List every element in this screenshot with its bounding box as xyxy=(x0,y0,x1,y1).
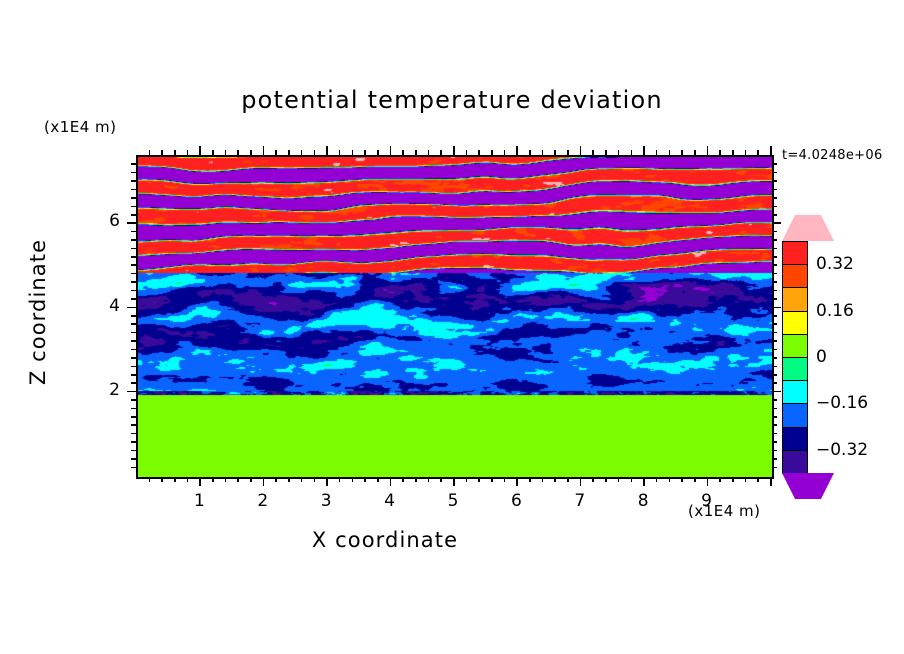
y-tick-right xyxy=(772,239,777,241)
y-tick xyxy=(131,189,136,191)
y-tick-right xyxy=(772,433,777,435)
y-tick xyxy=(131,450,136,452)
y-tick-right xyxy=(772,450,777,452)
x-tick xyxy=(719,477,721,482)
y-tick xyxy=(131,349,136,351)
x-tick-top xyxy=(174,150,176,155)
x-tick xyxy=(592,477,594,482)
x-tick xyxy=(770,477,772,486)
y-tick xyxy=(131,441,136,443)
x-tick xyxy=(352,477,354,482)
x-tick-top xyxy=(757,150,759,155)
x-tick xyxy=(275,477,277,482)
y-tick-label: 4 xyxy=(90,296,120,316)
x-tick xyxy=(732,477,734,482)
x-tick-top xyxy=(440,150,442,155)
x-tick xyxy=(542,477,544,482)
x-tick xyxy=(669,477,671,482)
x-tick xyxy=(199,477,201,486)
y-tick xyxy=(131,467,136,469)
x-tick xyxy=(415,477,417,482)
x-tick xyxy=(301,477,303,482)
y-tick-right xyxy=(772,307,781,309)
y-tick-right xyxy=(772,290,777,292)
x-tick-top xyxy=(314,150,316,155)
y-tick xyxy=(131,290,136,292)
y-tick-right xyxy=(772,382,777,384)
x-tick xyxy=(440,477,442,482)
x-tick xyxy=(288,477,290,482)
x-tick xyxy=(453,477,455,486)
x-tick xyxy=(643,477,645,486)
y-tick xyxy=(131,264,136,266)
y-tick-right xyxy=(772,357,777,359)
x-tick-top xyxy=(415,150,417,155)
y-tick xyxy=(131,214,136,216)
x-tick xyxy=(377,477,379,482)
x-tick-top xyxy=(529,150,531,155)
colorbar-tick-label: −0.32 xyxy=(816,440,868,460)
colorbar-band-red xyxy=(782,241,808,266)
colorbar-tick-label: −0.16 xyxy=(816,393,868,413)
x-tick-top xyxy=(275,150,277,155)
y-tick xyxy=(131,433,136,435)
x-tick xyxy=(745,477,747,482)
x-tick xyxy=(161,477,163,482)
y-tick xyxy=(131,458,136,460)
x-tick-top xyxy=(250,150,252,155)
y-tick-right xyxy=(772,264,777,266)
y-tick xyxy=(131,424,136,426)
y-tick xyxy=(131,408,136,410)
y-tick xyxy=(131,416,136,418)
x-tick xyxy=(250,477,252,482)
x-tick xyxy=(263,477,265,486)
x-tick-top xyxy=(390,146,392,155)
y-tick-right xyxy=(772,298,777,300)
y-tick-right xyxy=(772,281,777,283)
x-tick-top xyxy=(237,150,239,155)
x-tick xyxy=(390,477,392,486)
x-tick-top xyxy=(491,150,493,155)
y-tick-label: 6 xyxy=(90,211,120,231)
x-tick-top xyxy=(326,146,328,155)
x-tick xyxy=(504,477,506,482)
y-tick-right xyxy=(772,441,777,443)
x-tick-top xyxy=(301,150,303,155)
y-tick xyxy=(131,163,136,165)
x-tick xyxy=(757,477,759,482)
x-tick-top xyxy=(263,146,265,155)
x-tick-label: 4 xyxy=(370,491,410,511)
z-axis-unit-label: (x1E4 m) xyxy=(44,118,117,136)
x-tick xyxy=(491,477,493,482)
x-tick-top xyxy=(631,150,633,155)
x-tick xyxy=(580,477,582,486)
x-tick xyxy=(402,477,404,482)
colorbar-band-navy xyxy=(782,427,808,452)
y-tick xyxy=(131,399,136,401)
y-tick-right xyxy=(772,424,777,426)
x-tick xyxy=(225,477,227,482)
x-tick-top xyxy=(149,150,151,155)
y-tick xyxy=(131,239,136,241)
y-tick-label: 2 xyxy=(90,380,120,400)
x-tick xyxy=(631,477,633,482)
x-tick-top xyxy=(339,150,341,155)
x-tick-top xyxy=(428,150,430,155)
y-tick xyxy=(131,323,136,325)
y-tick xyxy=(131,357,136,359)
y-tick xyxy=(131,298,136,300)
x-tick xyxy=(314,477,316,482)
x-tick-top xyxy=(554,150,556,155)
y-tick-right xyxy=(772,332,777,334)
x-axis-label: X coordinate xyxy=(0,528,770,552)
y-tick xyxy=(127,307,136,309)
x-tick-top xyxy=(643,146,645,155)
y-tick-right xyxy=(772,391,781,393)
y-tick-right xyxy=(772,315,777,317)
x-tick xyxy=(681,477,683,482)
x-tick xyxy=(605,477,607,482)
y-tick-right xyxy=(772,222,781,224)
y-tick-right xyxy=(772,248,777,250)
y-tick-right xyxy=(772,349,777,351)
colorbar-tick-label: 0.16 xyxy=(816,301,854,321)
colorbar-over-range-cap xyxy=(782,215,834,241)
x-tick-top xyxy=(669,150,671,155)
x-tick-label: 1 xyxy=(179,491,219,511)
contour-plot-area xyxy=(136,155,774,479)
colorbar: 0.320.160−0.16−0.32 xyxy=(782,241,808,473)
x-tick-top xyxy=(288,150,290,155)
y-axis-label: Z coordinate xyxy=(26,222,50,402)
x-tick-top xyxy=(681,150,683,155)
x-tick xyxy=(707,477,709,486)
colorbar-tick-label: 0 xyxy=(816,347,827,367)
x-tick-top xyxy=(187,150,189,155)
x-tick xyxy=(694,477,696,482)
x-tick-top xyxy=(402,150,404,155)
y-tick-right xyxy=(772,416,777,418)
x-tick-label: 7 xyxy=(560,491,600,511)
y-tick xyxy=(131,382,136,384)
colorbar-band-blue xyxy=(782,403,808,428)
x-tick-top xyxy=(352,150,354,155)
contour-field-canvas xyxy=(138,157,772,477)
y-tick xyxy=(131,374,136,376)
x-tick xyxy=(364,477,366,482)
x-tick-top xyxy=(567,150,569,155)
x-tick-top xyxy=(199,146,201,155)
y-tick-right xyxy=(772,231,777,233)
x-axis-unit-label: (x1E4 m) xyxy=(688,502,761,520)
x-tick xyxy=(326,477,328,486)
x-tick-top xyxy=(707,146,709,155)
y-tick xyxy=(131,180,136,182)
x-tick xyxy=(237,477,239,482)
page-title: potential temperature deviation xyxy=(0,86,904,114)
x-tick-top xyxy=(212,150,214,155)
y-tick xyxy=(131,332,136,334)
y-tick xyxy=(131,281,136,283)
colorbar-band-orange-red xyxy=(782,264,808,289)
colorbar-band-purple xyxy=(782,450,808,475)
x-tick-label: 2 xyxy=(243,491,283,511)
y-tick-right xyxy=(772,467,777,469)
x-tick xyxy=(212,477,214,482)
x-tick-top xyxy=(504,150,506,155)
x-tick-label: 3 xyxy=(306,491,346,511)
x-tick-top xyxy=(605,150,607,155)
colorbar-band-yellow xyxy=(782,311,808,336)
y-tick xyxy=(131,206,136,208)
x-tick xyxy=(466,477,468,482)
x-tick-label: 8 xyxy=(623,491,663,511)
y-tick xyxy=(131,231,136,233)
y-tick xyxy=(131,197,136,199)
x-tick xyxy=(567,477,569,482)
y-tick-right xyxy=(772,163,777,165)
time-annotation: t=4.0248e+06 xyxy=(782,148,883,163)
colorbar-band-chartreuse xyxy=(782,334,808,359)
x-tick-label: 5 xyxy=(433,491,473,511)
x-tick-top xyxy=(453,146,455,155)
y-tick-right xyxy=(772,374,777,376)
y-tick-right xyxy=(772,206,777,208)
x-tick xyxy=(554,477,556,482)
y-tick-right xyxy=(772,189,777,191)
y-tick xyxy=(127,391,136,393)
x-tick xyxy=(174,477,176,482)
x-tick-top xyxy=(770,146,772,155)
x-tick-top xyxy=(719,150,721,155)
y-tick-right xyxy=(772,399,777,401)
y-tick xyxy=(131,315,136,317)
x-tick-top xyxy=(656,150,658,155)
x-tick xyxy=(428,477,430,482)
x-tick-top xyxy=(364,150,366,155)
colorbar-band-cyan xyxy=(782,380,808,405)
x-tick-top xyxy=(225,150,227,155)
y-tick xyxy=(131,340,136,342)
x-tick-top xyxy=(580,146,582,155)
x-tick-top xyxy=(466,150,468,155)
y-tick-right xyxy=(772,408,777,410)
colorbar-tick-label: 0.32 xyxy=(816,254,854,274)
x-tick-top xyxy=(377,150,379,155)
y-tick-right xyxy=(772,340,777,342)
y-tick xyxy=(127,222,136,224)
x-tick-top xyxy=(542,150,544,155)
x-tick xyxy=(478,477,480,482)
x-tick xyxy=(187,477,189,482)
y-tick-right xyxy=(772,214,777,216)
x-tick-label: 6 xyxy=(496,491,536,511)
x-tick-top xyxy=(592,150,594,155)
y-tick xyxy=(131,256,136,258)
y-tick-right xyxy=(772,256,777,258)
x-tick xyxy=(529,477,531,482)
y-tick-right xyxy=(772,458,777,460)
y-tick-right xyxy=(772,197,777,199)
colorbar-band-orange xyxy=(782,287,808,312)
y-tick-right xyxy=(772,273,777,275)
y-tick-right xyxy=(772,172,777,174)
y-tick xyxy=(131,273,136,275)
x-tick xyxy=(339,477,341,482)
colorbar-band-spring-green xyxy=(782,357,808,382)
x-tick-top xyxy=(478,150,480,155)
y-tick-right xyxy=(772,323,777,325)
x-tick xyxy=(656,477,658,482)
x-tick-top xyxy=(732,150,734,155)
x-tick-top xyxy=(745,150,747,155)
x-tick-top xyxy=(694,150,696,155)
x-tick xyxy=(618,477,620,482)
x-tick-top xyxy=(516,146,518,155)
y-tick xyxy=(131,366,136,368)
x-tick-top xyxy=(161,150,163,155)
y-tick xyxy=(131,248,136,250)
y-tick xyxy=(131,172,136,174)
colorbar-under-range-cap xyxy=(782,473,834,499)
x-tick xyxy=(516,477,518,486)
y-tick-right xyxy=(772,180,777,182)
x-tick xyxy=(149,477,151,482)
x-tick-top xyxy=(618,150,620,155)
y-tick-right xyxy=(772,366,777,368)
